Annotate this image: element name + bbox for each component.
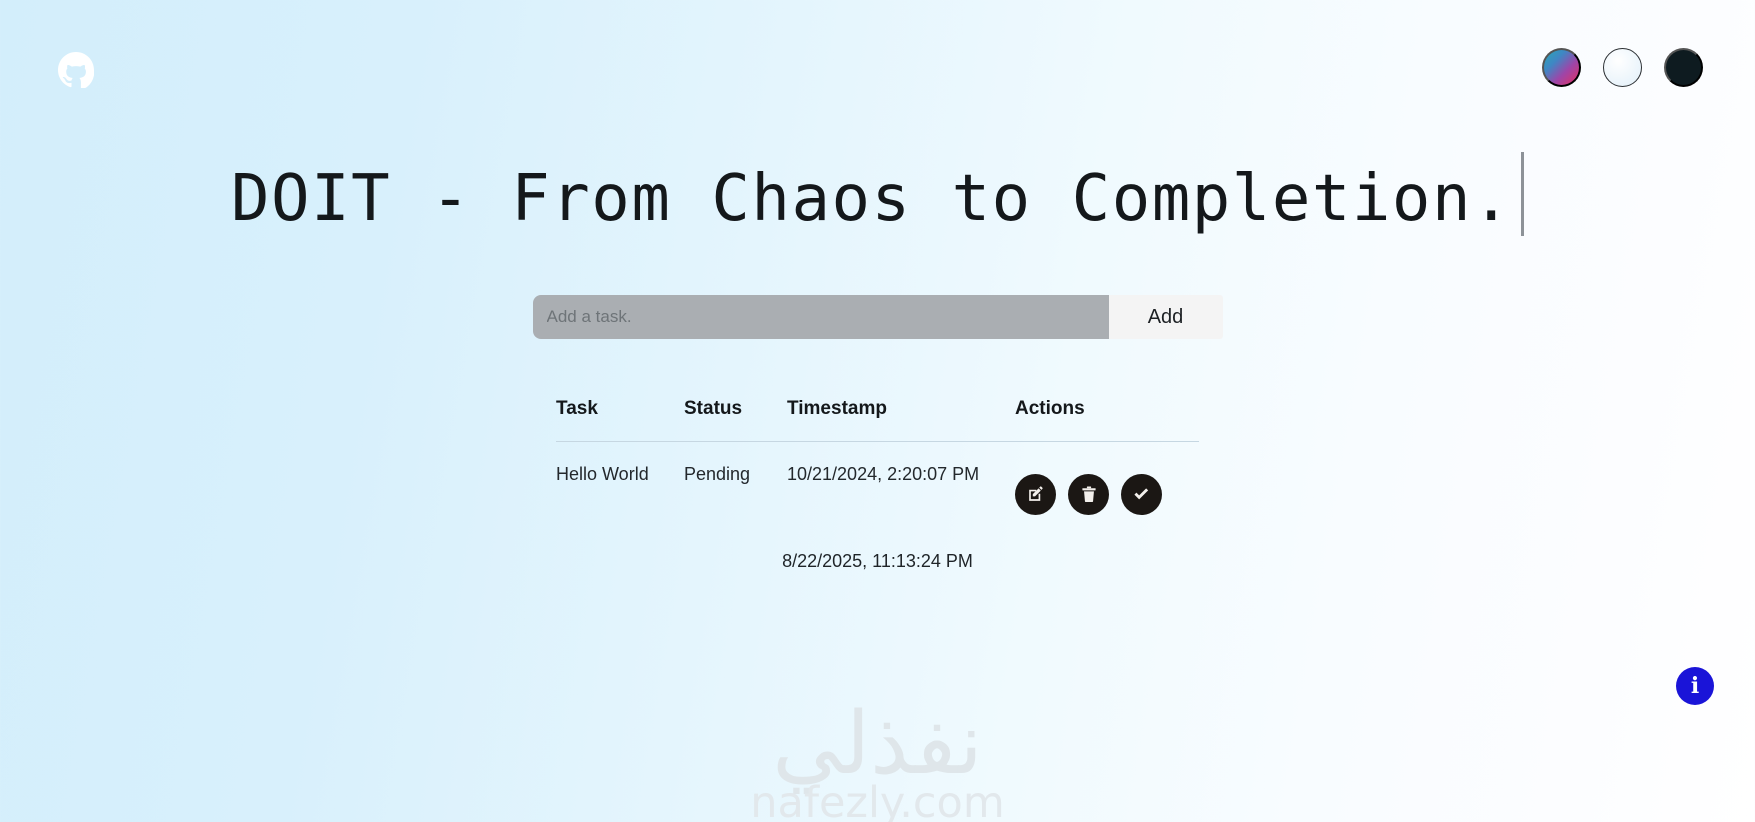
column-header-task: Task [556,398,684,442]
github-mark-icon[interactable] [58,52,94,88]
delete-task-button[interactable] [1068,474,1109,515]
task-table-head: Task Status Timestamp Actions [556,398,1199,442]
cell-status: Pending [684,442,787,516]
info-button[interactable]: i [1676,667,1714,705]
task-table-container: Task Status Timestamp Actions Hello Worl… [0,398,1755,515]
watermark-latin: nafezly.com [0,781,1755,822]
theme-option-gradient[interactable] [1542,48,1581,87]
task-table-header-row: Task Status Timestamp Actions [556,398,1199,442]
task-input[interactable] [533,295,1109,339]
add-task-button[interactable]: Add [1109,295,1223,339]
task-table-body: Hello World Pending 10/21/2024, 2:20:07 … [556,442,1199,516]
edit-task-button[interactable] [1015,474,1056,515]
task-table: Task Status Timestamp Actions Hello Worl… [556,398,1199,515]
theme-switcher [1542,48,1703,87]
theme-option-dark[interactable] [1664,48,1703,87]
live-clock: 8/22/2025, 11:13:24 PM [0,551,1755,572]
cell-actions [1015,442,1199,516]
top-bar [0,0,1755,128]
cell-task: Hello World [556,442,684,516]
column-header-timestamp: Timestamp [787,398,1015,442]
edit-icon [1026,485,1045,504]
page-title-container: DOIT - From Chaos to Completion. [0,152,1755,239]
check-icon [1131,484,1152,505]
trash-icon [1080,485,1098,504]
column-header-actions: Actions [1015,398,1199,442]
cell-timestamp: 10/21/2024, 2:20:07 PM [787,442,1015,516]
typewriter-caret [1521,152,1524,236]
complete-task-button[interactable] [1121,474,1162,515]
info-icon: i [1691,675,1699,697]
watermark-arabic: نفذلي [0,701,1755,787]
page-title: DOIT - From Chaos to Completion. [231,152,1524,239]
add-task-form: Add [0,295,1755,339]
watermark: نفذلي nafezly.com [0,701,1755,822]
row-action-group [1015,464,1199,515]
theme-option-light[interactable] [1603,48,1642,87]
table-row: Hello World Pending 10/21/2024, 2:20:07 … [556,442,1199,516]
page-title-text: DOIT - From Chaos to Completion. [231,162,1512,236]
column-header-status: Status [684,398,787,442]
